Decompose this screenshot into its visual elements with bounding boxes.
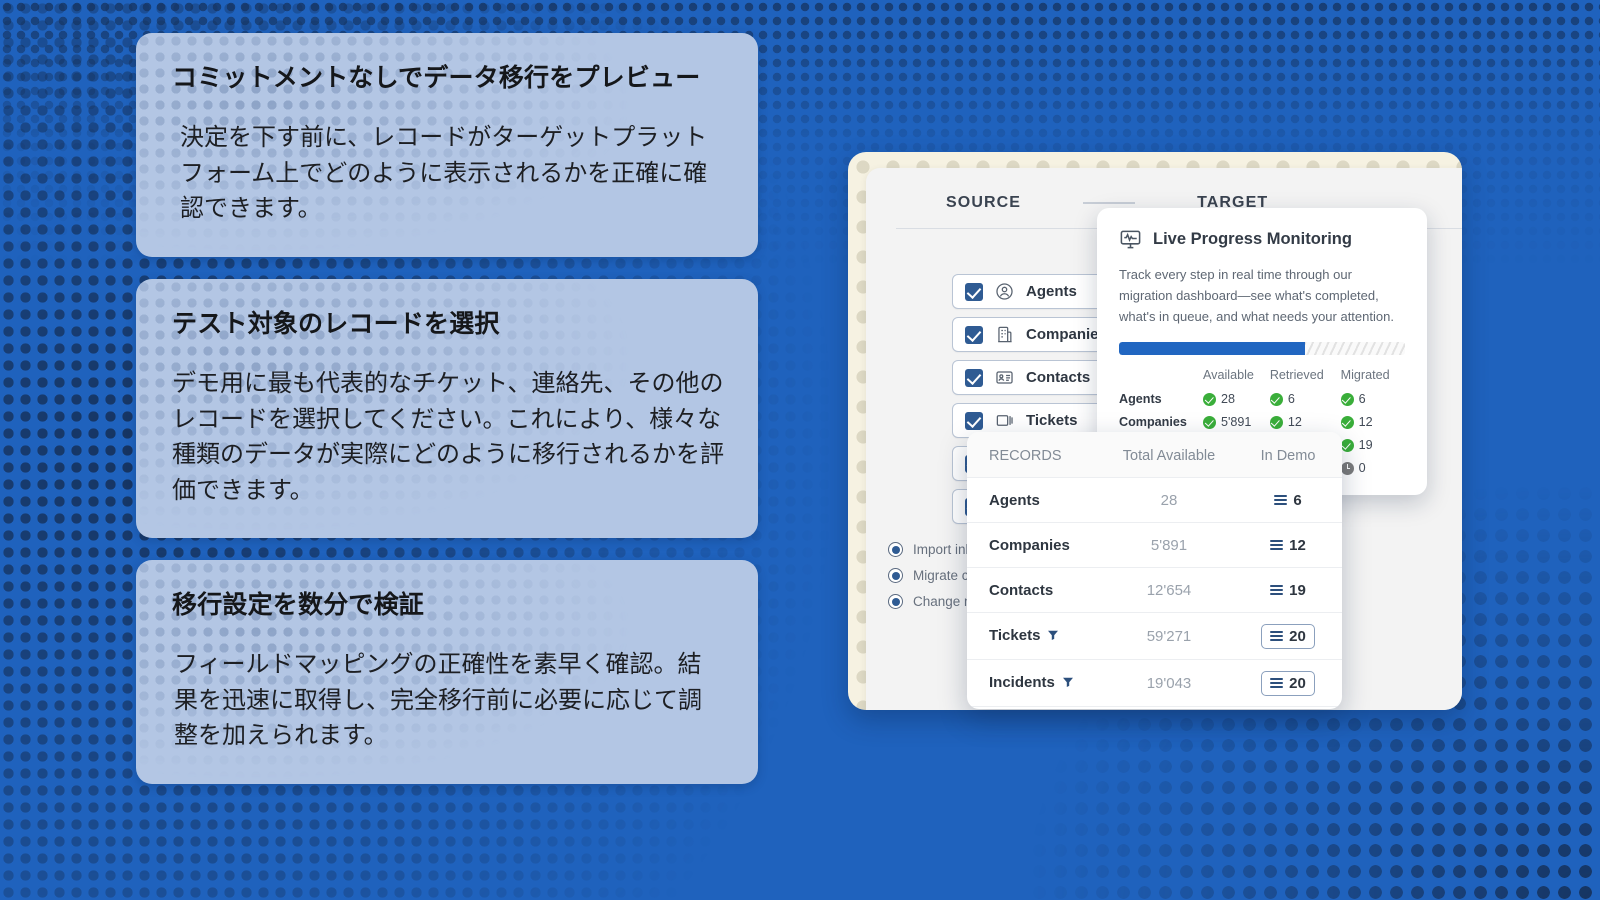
in-demo-count: 20 [1289, 675, 1306, 692]
live-progress-cell: 19 [1341, 436, 1405, 459]
record-demo-cell[interactable]: 20 [1234, 660, 1342, 707]
record-total-cell: 5'891 [1104, 523, 1234, 568]
records-col-name: RECORDS [967, 432, 1104, 478]
radio-selected-icon[interactable] [888, 568, 903, 583]
live-progress-col-retrieved: Retrieved [1270, 368, 1341, 390]
list-lines-icon [1270, 678, 1283, 687]
live-progress-row: Agents2866 [1119, 390, 1405, 413]
table-row[interactable]: Companies5'89112 [967, 523, 1342, 568]
record-name-cell: Triggers [967, 707, 1104, 710]
live-progress-cell: 28 [1203, 390, 1270, 413]
progress-bar-track [1119, 342, 1405, 355]
check-circle-icon [1270, 393, 1283, 406]
feature-card: テスト対象のレコードを選択 デモ用に最も代表的なチケット、連絡先、その他のレコー… [136, 279, 758, 538]
records-table-card: RECORDS Total Available In Demo Agents28… [967, 432, 1342, 709]
live-progress-cell: 12 [1341, 413, 1405, 436]
checkbox-checked-icon[interactable] [965, 412, 983, 430]
feature-card-body: 決定を下す前に、レコードがターゲットプラットフォーム上でどのように表示されるかを… [172, 120, 724, 227]
record-demo-cell[interactable]: 15 [1234, 707, 1342, 710]
records-table: RECORDS Total Available In Demo Agents28… [967, 432, 1342, 709]
radio-selected-icon[interactable] [888, 594, 903, 609]
live-progress-description: Track every step in real time through ou… [1119, 264, 1405, 327]
tab-source[interactable]: SOURCE [946, 194, 1021, 212]
record-total-cell: 12'654 [1104, 568, 1234, 613]
filter-funnel-icon[interactable] [1047, 628, 1059, 645]
record-total-cell: 35 [1104, 707, 1234, 710]
in-demo-count: 19 [1289, 582, 1306, 599]
check-circle-icon [1341, 393, 1354, 406]
feature-card: コミットメントなしでデータ移行をプレビュー 決定を下す前に、レコードがターゲット… [136, 33, 758, 257]
record-name-cell: Tickets [967, 613, 1104, 660]
progress-bar-fill [1119, 342, 1305, 355]
list-lines-icon [1270, 540, 1283, 549]
live-progress-row-label: Agents [1119, 390, 1203, 413]
check-circle-icon [1341, 416, 1354, 429]
in-demo-badge[interactable]: 19 [1262, 579, 1314, 602]
record-total-cell: 28 [1104, 478, 1234, 523]
records-header-row: RECORDS Total Available In Demo [967, 432, 1342, 478]
live-progress-value: 28 [1221, 392, 1235, 406]
record-demo-cell[interactable]: 12 [1234, 523, 1342, 568]
check-circle-icon [1270, 416, 1283, 429]
in-demo-count: 20 [1289, 628, 1306, 645]
live-progress-title: Live Progress Monitoring [1153, 230, 1352, 249]
ticket-icon [995, 411, 1014, 430]
monitor-pulse-icon [1119, 228, 1142, 251]
checkbox-checked-icon[interactable] [965, 369, 983, 387]
checkbox-checked-icon[interactable] [965, 283, 983, 301]
record-type-label: Contacts [1026, 369, 1090, 386]
live-progress-value: 6 [1288, 392, 1295, 406]
record-total-cell: 19'043 [1104, 660, 1234, 707]
table-row[interactable]: Incidents19'04320 [967, 660, 1342, 707]
checkbox-checked-icon[interactable] [965, 326, 983, 344]
in-demo-badge[interactable]: 6 [1266, 489, 1309, 512]
record-total-cell: 59'271 [1104, 613, 1234, 660]
list-lines-icon [1274, 495, 1287, 504]
record-demo-cell[interactable]: 20 [1234, 613, 1342, 660]
live-progress-header: Live Progress Monitoring [1119, 228, 1405, 251]
check-circle-icon [1341, 439, 1354, 452]
records-col-demo: In Demo [1234, 432, 1342, 478]
record-name-cell: Companies [967, 523, 1104, 568]
table-row[interactable]: Tickets59'27120 [967, 613, 1342, 660]
feature-card-title: テスト対象のレコードを選択 [172, 309, 724, 340]
live-progress-col-blank [1119, 368, 1203, 390]
records-table-body: Agents286Companies5'89112Contacts12'6541… [967, 478, 1342, 710]
in-demo-count: 12 [1289, 537, 1306, 554]
live-progress-cell: 0 [1341, 459, 1405, 482]
record-demo-cell[interactable]: 19 [1234, 568, 1342, 613]
in-demo-badge[interactable]: 20 [1261, 624, 1315, 649]
live-progress-cell: 6 [1270, 390, 1341, 413]
check-circle-icon [1203, 416, 1216, 429]
table-row[interactable]: Agents286 [967, 478, 1342, 523]
feature-card-body: フィールドマッピングの正確性を素早く確認。結果を迅速に取得し、完全移行前に必要に… [172, 647, 724, 754]
feature-card-list: コミットメントなしでデータ移行をプレビュー 決定を下す前に、レコードがターゲット… [136, 33, 758, 784]
building-icon [995, 325, 1014, 344]
tab-connector-line [1083, 202, 1135, 204]
record-name-cell: Agents [967, 478, 1104, 523]
list-lines-icon [1270, 631, 1283, 640]
record-type-label: Companies [1026, 326, 1107, 343]
record-type-label: Tickets [1026, 412, 1077, 429]
live-progress-value: 5'891 [1221, 415, 1251, 429]
record-name-cell: Incidents [967, 660, 1104, 707]
list-lines-icon [1270, 585, 1283, 594]
in-demo-badge[interactable]: 20 [1261, 671, 1315, 696]
records-col-total: Total Available [1104, 432, 1234, 478]
feature-card-title: 移行設定を数分で検証 [172, 590, 724, 621]
id-card-icon [995, 368, 1014, 387]
live-progress-value: 0 [1359, 461, 1366, 475]
radio-selected-icon[interactable] [888, 542, 903, 557]
feature-card-body: デモ用に最も代表的なチケット、連絡先、その他のレコードを選択してください。これに… [172, 366, 724, 508]
pending-clock-icon [1341, 462, 1354, 475]
live-progress-col-available: Available [1203, 368, 1270, 390]
live-progress-col-migrated: Migrated [1341, 368, 1405, 390]
record-name-cell: Contacts [967, 568, 1104, 613]
live-progress-cell: 6 [1341, 390, 1405, 413]
live-progress-header-row: Available Retrieved Migrated [1119, 368, 1405, 390]
live-progress-value: 12 [1288, 415, 1302, 429]
check-circle-icon [1203, 393, 1216, 406]
feature-card: 移行設定を数分で検証 フィールドマッピングの正確性を素早く確認。結果を迅速に取得… [136, 560, 758, 784]
record-type-label: Agents [1026, 283, 1077, 300]
live-progress-value: 19 [1359, 438, 1373, 452]
record-demo-cell[interactable]: 6 [1234, 478, 1342, 523]
user-circle-icon [995, 282, 1014, 301]
in-demo-count: 6 [1293, 492, 1301, 509]
migration-option-label: Import inli [913, 542, 972, 557]
filter-funnel-icon[interactable] [1062, 675, 1074, 692]
table-row[interactable]: Contacts12'65419 [967, 568, 1342, 613]
feature-card-title: コミットメントなしでデータ移行をプレビュー [172, 63, 724, 94]
table-row[interactable]: Triggers3515 [967, 707, 1342, 710]
live-progress-value: 12 [1359, 415, 1373, 429]
in-demo-badge[interactable]: 12 [1262, 534, 1314, 557]
live-progress-value: 6 [1359, 392, 1366, 406]
